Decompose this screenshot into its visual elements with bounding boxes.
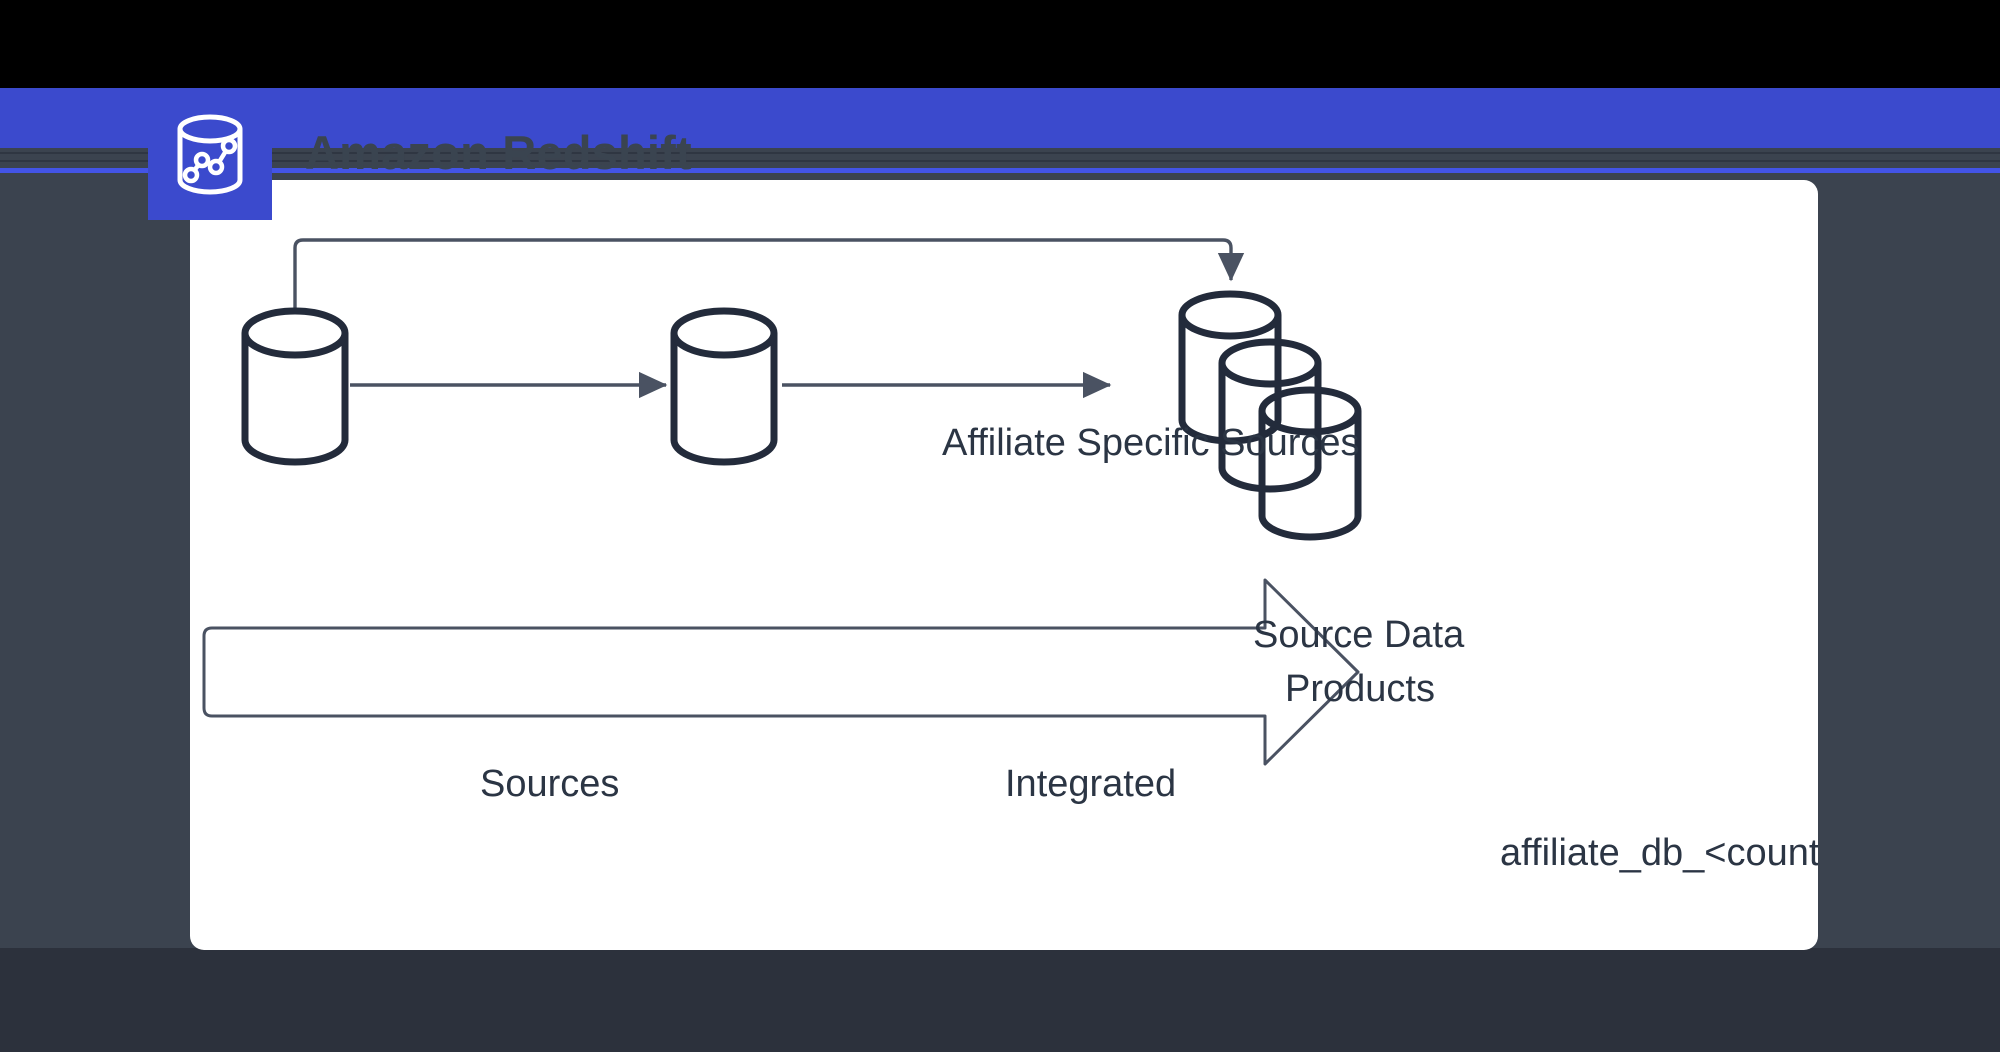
node-label-sources: Sources bbox=[480, 763, 619, 806]
brand-accent-rule bbox=[0, 168, 2000, 173]
brand-banner bbox=[0, 88, 2000, 148]
node-integrated-cylinder bbox=[674, 311, 774, 462]
node-label-integrated: Integrated bbox=[1005, 763, 1176, 806]
cylinder-2 bbox=[1222, 342, 1318, 489]
redshift-cylinder-chart-icon bbox=[148, 96, 272, 220]
divider-line-1 bbox=[0, 152, 2000, 154]
node-affiliate-db-stacked-cylinders bbox=[1182, 294, 1358, 537]
node-label-affiliate-db: affiliate_db_<country> bbox=[1500, 832, 1818, 875]
edge-label-source-data-line1: Source Data bbox=[1253, 614, 1464, 657]
dbt-process-band-arrow bbox=[204, 580, 1358, 764]
node-sources-cylinder bbox=[245, 311, 345, 462]
screenshot-stage: Amazon Redshift bbox=[0, 0, 2000, 1052]
page-background-bottom bbox=[0, 948, 2000, 1052]
diagram-card: Affiliate Specific Sources Source Data P… bbox=[190, 180, 1818, 950]
edge-label-source-data-line2: Products bbox=[1285, 668, 1435, 711]
page-title: Amazon Redshift bbox=[305, 125, 692, 180]
divider-line-2 bbox=[0, 160, 2000, 162]
edge-label-affiliate-specific-sources: Affiliate Specific Sources bbox=[942, 422, 1360, 465]
